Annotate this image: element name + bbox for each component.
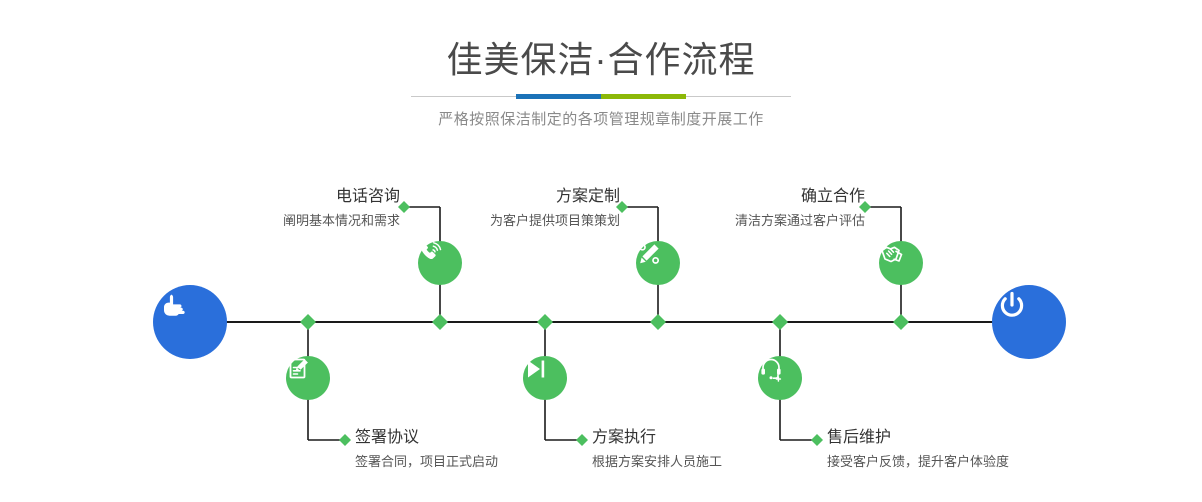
step-5-icon-circle[interactable] xyxy=(879,241,923,285)
flow-end-node[interactable] xyxy=(992,285,1066,359)
step-2-title: 签署协议 xyxy=(355,427,615,449)
document-sign-icon xyxy=(286,356,312,382)
pointing-hand-icon xyxy=(153,285,193,325)
diamond-anchor xyxy=(339,434,351,446)
play-next-icon xyxy=(523,356,549,382)
step-1-label: 电话咨询 阐明基本情况和需求 xyxy=(160,186,400,231)
step-6-icon-circle[interactable] xyxy=(758,356,802,400)
diamond-marker xyxy=(300,314,316,330)
step-2-label: 签署协议 签署合同，项目正式启动 xyxy=(355,427,615,472)
step-6-title: 售后维护 xyxy=(827,427,1107,449)
step-2-icon-circle[interactable] xyxy=(286,356,330,400)
diamond-marker xyxy=(432,314,448,330)
step-4-icon-circle[interactable] xyxy=(523,356,567,400)
step-6-label: 售后维护 接受客户反馈，提升客户体验度 xyxy=(827,427,1107,472)
phone-call-icon xyxy=(418,241,444,267)
step-4-desc: 根据方案安排人员施工 xyxy=(592,452,852,472)
diamond-marker xyxy=(772,314,788,330)
handshake-icon xyxy=(879,241,907,269)
diamond-marker xyxy=(537,314,553,330)
power-icon xyxy=(992,285,1032,325)
step-4-label: 方案执行 根据方案安排人员施工 xyxy=(592,427,852,472)
step-1-icon-circle[interactable] xyxy=(418,241,462,285)
headset-support-icon xyxy=(758,356,784,382)
step-6-desc: 接受客户反馈，提升客户体验度 xyxy=(827,452,1107,472)
diamond-marker xyxy=(650,314,666,330)
step-5-desc: 清洁方案通过客户评估 xyxy=(625,211,865,231)
step-5-label: 确立合作 清洁方案通过客户评估 xyxy=(625,186,865,231)
label-anchor-markers xyxy=(339,201,871,446)
step-3-title: 方案定制 xyxy=(380,186,620,208)
step-1-title: 电话咨询 xyxy=(160,186,400,208)
step-3-icon-circle[interactable] xyxy=(636,241,680,285)
step-2-desc: 签署合同，项目正式启动 xyxy=(355,452,615,472)
process-flow-diagram: 电话咨询 阐明基本情况和需求 签署协议 签署合同，项目正式启动 方案定制 为客户… xyxy=(0,0,1202,502)
step-5-title: 确立合作 xyxy=(625,186,865,208)
pencil-design-icon xyxy=(636,241,662,267)
flow-start-node[interactable] xyxy=(153,285,227,359)
step-4-title: 方案执行 xyxy=(592,427,852,449)
step-3-label: 方案定制 为客户提供项目策策划 xyxy=(380,186,620,231)
step-1-desc: 阐明基本情况和需求 xyxy=(160,211,400,231)
diamond-marker xyxy=(893,314,909,330)
step-3-desc: 为客户提供项目策策划 xyxy=(380,211,620,231)
